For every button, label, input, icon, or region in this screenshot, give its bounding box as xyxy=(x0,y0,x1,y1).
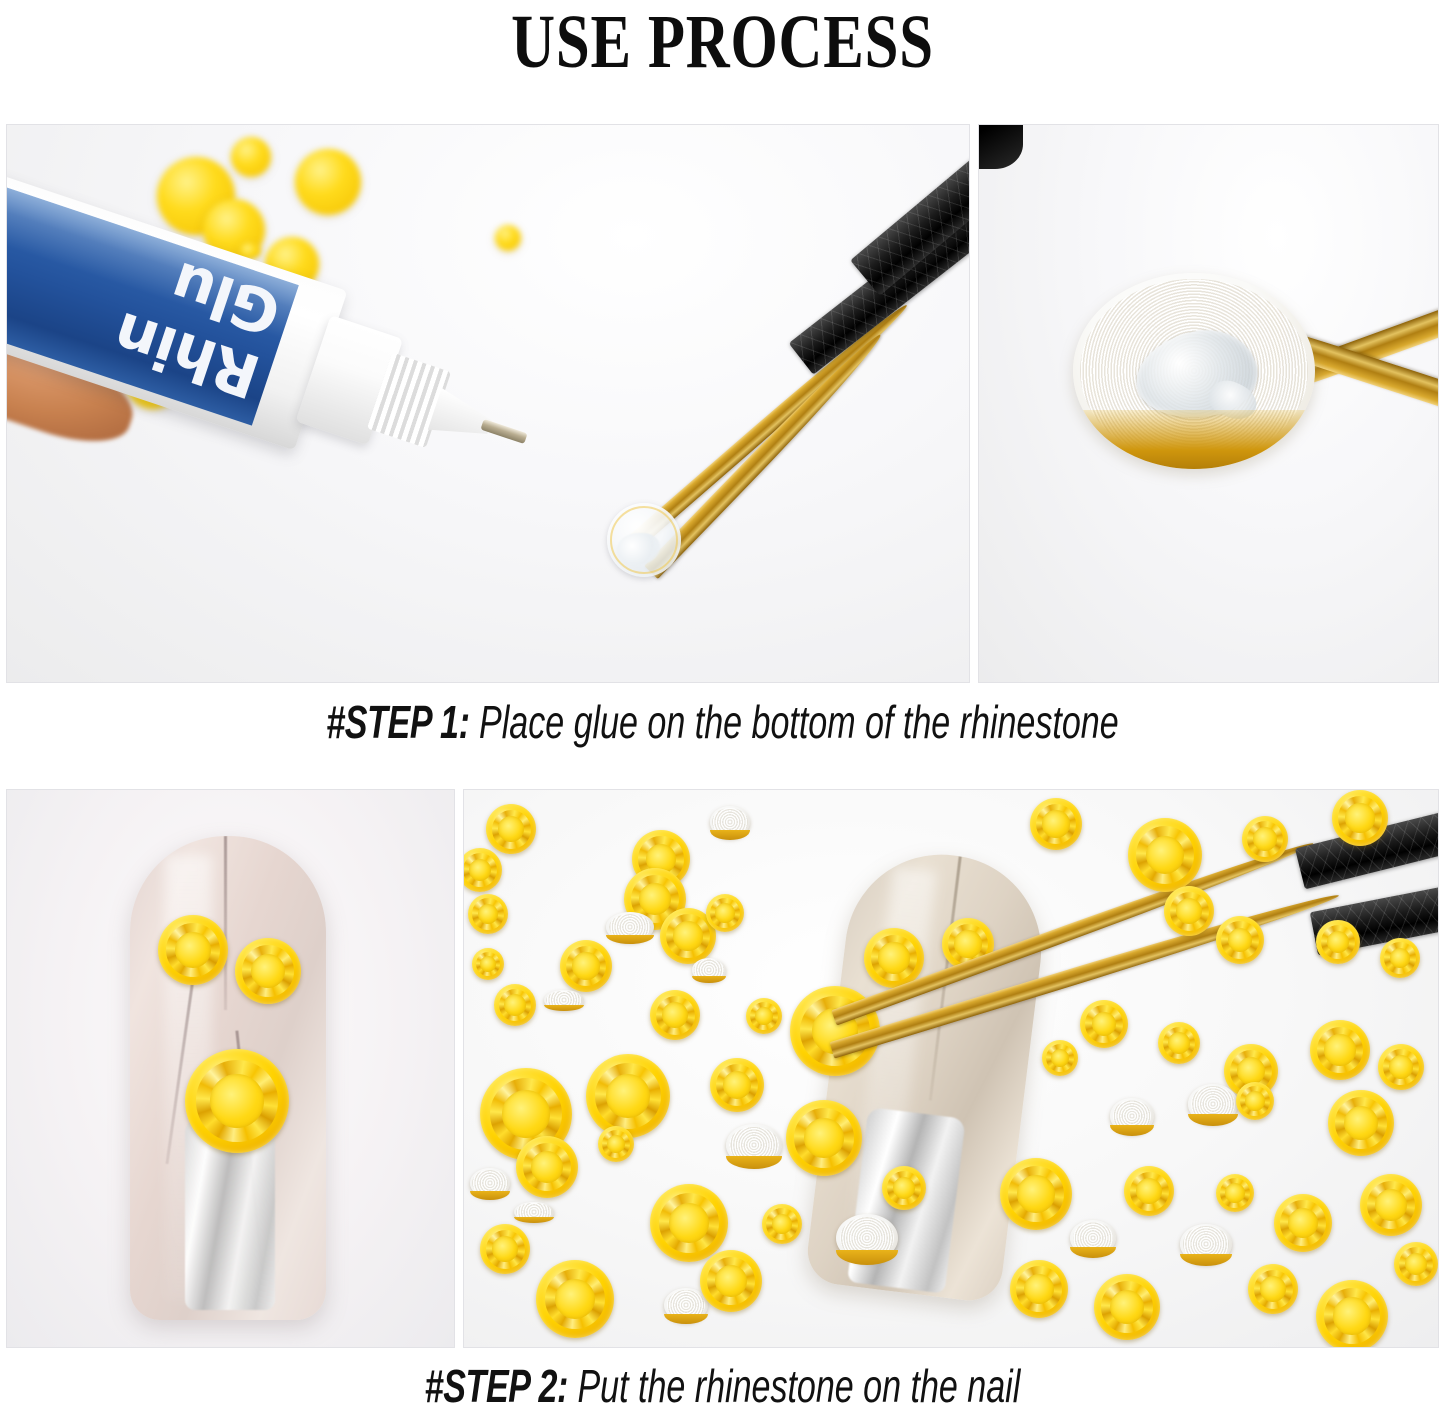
scattered-rhinestone xyxy=(494,984,536,1026)
scattered-rhinestone-back xyxy=(710,806,750,838)
scattered-rhinestone xyxy=(1158,1022,1200,1064)
rhinestone-gold-rim xyxy=(1078,410,1310,469)
scattered-rhinestone xyxy=(882,1166,926,1210)
nail-rhinestone-medium xyxy=(235,938,301,1004)
step1-label: #STEP 1: xyxy=(326,696,469,748)
scattered-rhinestone xyxy=(1394,1242,1438,1286)
scattered-rhinestone xyxy=(586,1054,670,1138)
scattered-rhinestone-back xyxy=(1188,1084,1238,1124)
scattered-rhinestone xyxy=(786,1100,862,1176)
step2-caption: #STEP 2: Put the rhinestone on the nail xyxy=(0,1358,1445,1414)
page-title: USE PROCESS xyxy=(145,0,1301,90)
scattered-rhinestone-back xyxy=(664,1288,708,1322)
scattered-rhinestone xyxy=(1242,816,1288,862)
scattered-rhinestone-back xyxy=(692,958,726,982)
scattered-rhinestone xyxy=(468,894,508,934)
step1-text: Place glue on the bottom of the rhinesto… xyxy=(470,696,1119,748)
scattered-rhinestone-back xyxy=(606,912,654,942)
scattered-rhinestone xyxy=(650,990,700,1040)
scattered-rhinestone xyxy=(536,1260,614,1338)
scattered-rhinestone-back xyxy=(1070,1220,1116,1256)
scattered-rhinestone xyxy=(1378,1044,1424,1090)
nail-marble-line xyxy=(224,836,227,1010)
scattered-rhinestone xyxy=(706,894,744,932)
scattered-rhinestone xyxy=(472,948,504,980)
scattered-rhinestone xyxy=(1216,1174,1254,1212)
scattered-rhinestone-back xyxy=(836,1214,898,1262)
scattered-rhinestone-back-side xyxy=(514,1202,554,1222)
nail-rhinestone-small xyxy=(158,915,228,985)
step2-finished-nail-photo xyxy=(6,789,455,1348)
scattered-rhinestone xyxy=(1030,798,1082,850)
background-rhinestone xyxy=(231,137,271,177)
scattered-rhinestone xyxy=(1236,1082,1274,1120)
rhinestone-with-glue-drop xyxy=(607,503,681,577)
scattered-rhinestone xyxy=(762,1204,802,1244)
scattered-rhinestone xyxy=(1216,916,1264,964)
scattered-rhinestone xyxy=(1316,1280,1388,1348)
scattered-rhinestone xyxy=(516,1136,578,1198)
scattered-rhinestone xyxy=(710,1058,764,1112)
scattered-rhinestone xyxy=(1128,818,1202,892)
scattered-rhinestone xyxy=(1328,1090,1394,1156)
scattered-rhinestone xyxy=(1274,1194,1332,1252)
rhinestone-foil-back xyxy=(1073,273,1315,469)
scattered-rhinestone-back xyxy=(726,1124,782,1166)
scattered-rhinestone xyxy=(560,940,612,992)
scattered-rhinestone xyxy=(598,1126,634,1162)
scattered-rhinestone xyxy=(1124,1166,1174,1216)
step1-glue-application-photo: Rhin Glu xyxy=(6,124,970,683)
scattered-rhinestone-back-side xyxy=(544,990,584,1010)
step2-label: #STEP 2: xyxy=(425,1360,568,1412)
step1-caption: #STEP 1: Place glue on the bottom of the… xyxy=(0,694,1445,750)
step1-rhinestone-back-photo xyxy=(978,124,1439,683)
scattered-rhinestone xyxy=(700,1250,762,1312)
scattered-rhinestone xyxy=(480,1224,530,1274)
scattered-rhinestone xyxy=(1332,790,1388,846)
nail-rhinestone-large xyxy=(185,1049,289,1153)
scattered-rhinestone xyxy=(1000,1158,1072,1230)
background-rhinestone xyxy=(295,149,361,215)
scattered-rhinestone xyxy=(1080,1000,1128,1048)
scattered-rhinestone xyxy=(746,998,782,1034)
scattered-rhinestone-back xyxy=(1180,1224,1232,1264)
step2-rhinestone-scatter-photo xyxy=(463,789,1439,1348)
scattered-rhinestone xyxy=(1248,1264,1298,1314)
scattered-rhinestone-back xyxy=(1110,1098,1154,1134)
background-rhinestone xyxy=(495,225,521,251)
rhinestone-disc xyxy=(1073,273,1315,469)
scattered-rhinestone xyxy=(650,1184,728,1262)
scattered-rhinestone xyxy=(486,804,536,854)
scattered-rhinestone xyxy=(1380,938,1420,978)
scattered-rhinestone-back xyxy=(470,1168,510,1198)
scattered-rhinestone xyxy=(1094,1274,1160,1340)
scattered-rhinestone xyxy=(1164,886,1214,936)
scattered-rhinestone xyxy=(1042,1040,1078,1076)
step2-text: Put the rhinestone on the nail xyxy=(568,1360,1020,1412)
scattered-rhinestone xyxy=(1010,1260,1068,1318)
scattered-rhinestone xyxy=(1360,1174,1422,1236)
scattered-rhinestone xyxy=(1316,920,1360,964)
scattered-rhinestone xyxy=(1310,1020,1370,1080)
